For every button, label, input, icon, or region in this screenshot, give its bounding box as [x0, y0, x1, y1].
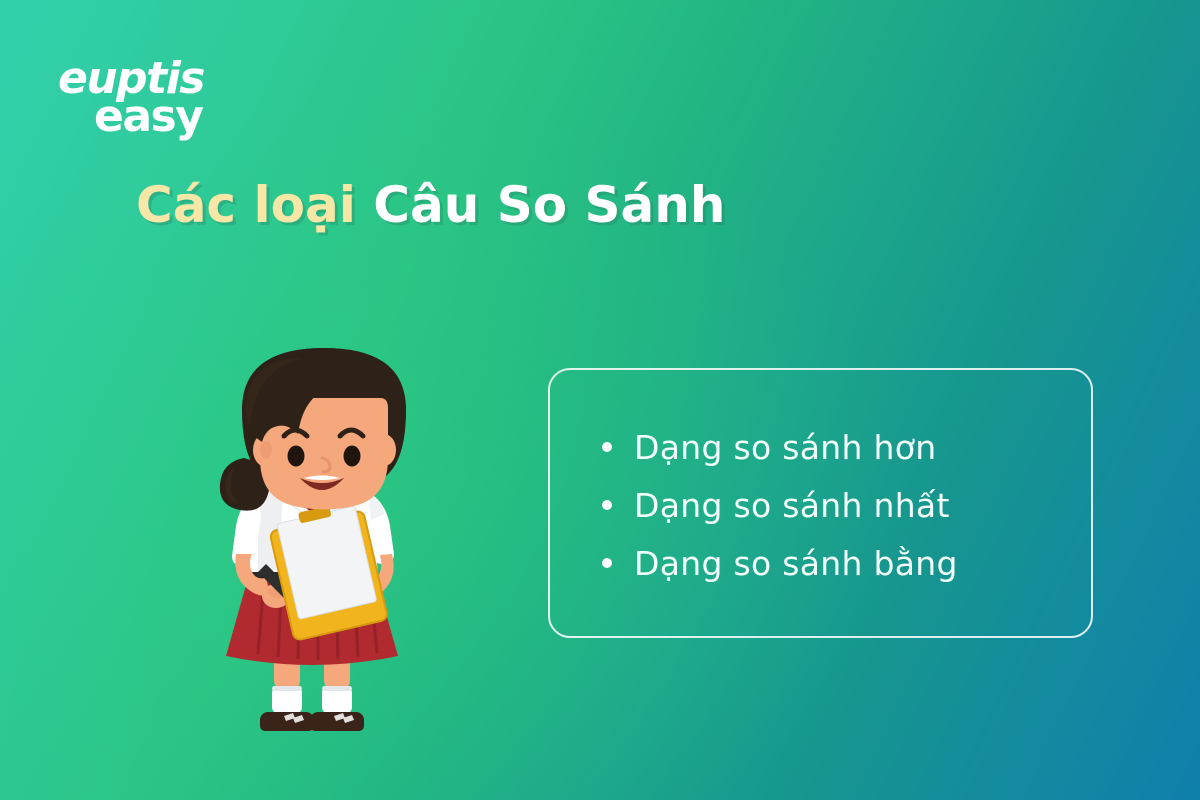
- list-item: Dạng so sánh nhất: [602, 476, 958, 534]
- bullet-dot-icon: [602, 500, 612, 510]
- list-item-label: Dạng so sánh hơn: [634, 428, 936, 467]
- list-item: Dạng so sánh hơn: [602, 418, 958, 476]
- brand-logo-line2: easy: [94, 98, 204, 136]
- comparison-types-card: Dạng so sánh hơn Dạng so sánh nhất Dạng …: [548, 368, 1093, 638]
- list-item-label: Dạng so sánh bằng: [634, 544, 958, 583]
- bullet-dot-icon: [602, 442, 612, 452]
- brand-logo: euptis easy: [58, 60, 204, 136]
- list-item-label: Dạng so sánh nhất: [634, 486, 950, 525]
- slide-canvas: euptis easy Các loại Câu So Sánh Dạng so…: [0, 0, 1200, 800]
- page-title-main: Câu So Sánh: [373, 176, 725, 234]
- page-title: Các loại Câu So Sánh: [136, 178, 725, 233]
- list-item: Dạng so sánh bằng: [602, 534, 958, 592]
- bullet-dot-icon: [602, 558, 612, 568]
- page-title-highlight: Các loại: [136, 176, 373, 234]
- schoolgirl-illustration: [196, 340, 452, 756]
- comparison-types-list: Dạng so sánh hơn Dạng so sánh nhất Dạng …: [602, 418, 958, 592]
